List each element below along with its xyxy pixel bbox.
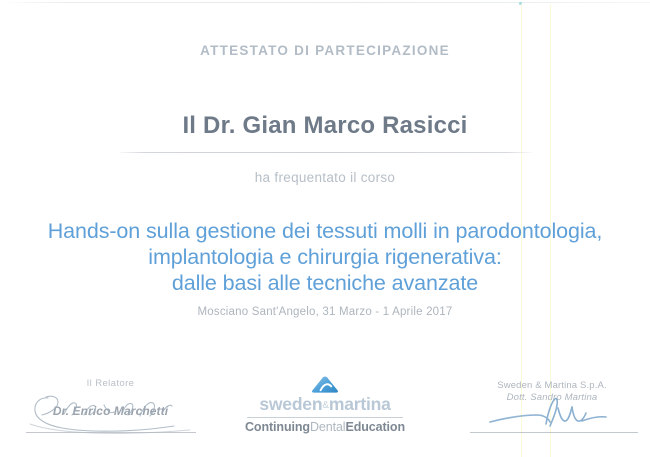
right-signer-company: Sweden & Martina S.p.A. <box>462 380 642 391</box>
wordmark-sweden: sweden <box>259 394 322 414</box>
course-title: Hands-on sulla gestione dei tessuti moll… <box>0 218 650 296</box>
logo-tagline: ContinuingDentalEducation <box>232 420 418 435</box>
right-signer-name: Dott. Sandro Martina <box>462 392 642 403</box>
certificate-subtitle: ha frequentato il corso <box>0 170 650 185</box>
scan-edge-artifact <box>0 2 650 3</box>
logo-divider-rule <box>247 417 403 418</box>
left-signer-name: Dr. Enrico Marchetti <box>18 404 203 418</box>
wordmark-martina: martina <box>329 394 391 414</box>
course-title-line-1: Hands-on sulla gestione dei tessuti moll… <box>0 218 650 244</box>
left-signature-rule <box>26 432 196 433</box>
tagline-education: Education <box>345 420 405 434</box>
triangle-mountain-icon <box>304 374 346 394</box>
right-signature-block: Sweden & Martina S.p.A. Dott. Sandro Mar… <box>462 380 642 403</box>
sweden-martina-logo: sweden&martina ContinuingDentalEducation <box>232 374 418 435</box>
logo-mark <box>232 374 418 394</box>
left-signer-role: Il Relatore <box>18 378 203 389</box>
course-title-line-3: dalle basi alle tecniche avanzate <box>0 270 650 296</box>
logo-wordmark: sweden&martina <box>232 395 418 415</box>
place-and-date: Mosciano Sant'Angelo, 31 Marzo - 1 April… <box>0 306 650 318</box>
tagline-dental: Dental <box>310 420 346 434</box>
recipient-name: Il Dr. Gian Marco Rasicci <box>0 112 650 140</box>
certificate-document: ATTESTATO DI PARTECIPAZIONE Il Dr. Gian … <box>0 0 650 457</box>
certificate-header: ATTESTATO DI PARTECIPAZIONE <box>0 43 650 58</box>
right-signature-rule <box>470 432 638 433</box>
left-signature-block: Il Relatore Dr. Enrico Marchetti <box>18 378 203 389</box>
name-underline-rule <box>120 152 532 153</box>
course-title-line-2: implantologia e chirurgia rigenerativa: <box>0 244 650 270</box>
tagline-continuing: Continuing <box>245 420 310 434</box>
